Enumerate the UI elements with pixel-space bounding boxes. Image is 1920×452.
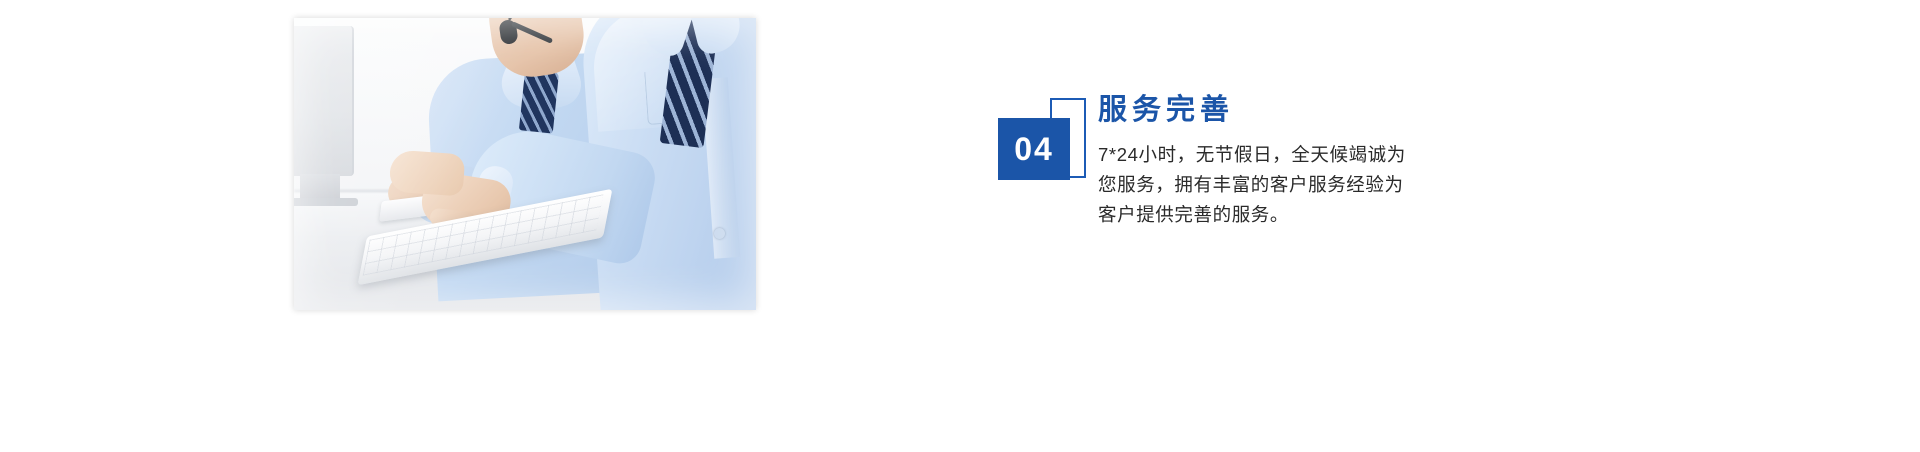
description-line-1: 7*24小时，无节假日，全天候竭诚为 — [1098, 140, 1518, 170]
feature-description: 7*24小时，无节假日，全天候竭诚为 您服务，拥有丰富的客户服务经验为 客户提供… — [1098, 140, 1518, 230]
description-line-2: 您服务，拥有丰富的客户服务经验为 — [1098, 170, 1518, 200]
badge-filled-square: 04 — [998, 118, 1070, 180]
badge-number-label: 04 — [1014, 133, 1054, 165]
step-number-badge: 04 — [998, 92, 1090, 182]
monitor-icon — [294, 26, 354, 176]
service-feature-banner: 04 服务完善 7*24小时，无节假日，全天候竭诚为 您服务，拥有丰富的客户服务… — [0, 0, 1920, 452]
call-center-photo-card — [294, 18, 756, 310]
monitor-stand — [300, 174, 340, 200]
shirt-button-icon — [714, 228, 725, 239]
front-agent-second-hand — [389, 149, 466, 196]
back-agent-necktie — [519, 68, 559, 133]
feature-heading: 服务完善 — [1098, 92, 1518, 128]
feature-text-column: 服务完善 7*24小时，无节假日，全天候竭诚为 您服务，拥有丰富的客户服务经验为… — [1098, 92, 1518, 230]
photo-frame — [294, 18, 756, 310]
monitor-base — [294, 198, 358, 206]
description-line-3: 客户提供完善的服务。 — [1098, 200, 1518, 230]
